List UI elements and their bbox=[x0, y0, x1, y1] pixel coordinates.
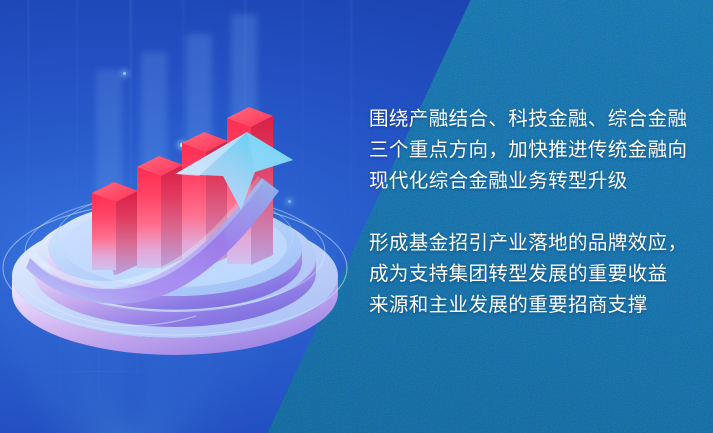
paragraph-1: 围绕产融结合、科技金融、综合金融 三个重点方向，加快推进传统金融向 现代化综合金… bbox=[369, 104, 689, 197]
bar-2 bbox=[137, 156, 183, 269]
paragraph-1-line-2: 三个重点方向，加快推进传统金融向 bbox=[369, 135, 689, 166]
promotional-banner: 围绕产融结合、科技金融、综合金融 三个重点方向，加快推进传统金融向 现代化综合金… bbox=[0, 0, 713, 433]
paragraph-2-line-1: 形成基金招引产业落地的品牌效应， bbox=[369, 228, 689, 259]
paragraph-2-line-3: 来源和主业发展的重要招商支撑 bbox=[369, 290, 689, 321]
paragraph-1-line-3: 现代化综合金融业务转型升级 bbox=[369, 166, 689, 197]
bar-1 bbox=[92, 182, 138, 275]
paragraph-1-line-1: 围绕产融结合、科技金融、综合金融 bbox=[369, 104, 689, 135]
paragraph-2-line-2: 成为支持集团转型发展的重要收益 bbox=[369, 259, 689, 290]
text-content: 围绕产融结合、科技金融、综合金融 三个重点方向，加快推进传统金融向 现代化综合金… bbox=[369, 104, 689, 321]
paragraph-2: 形成基金招引产业落地的品牌效应， 成为支持集团转型发展的重要收益 来源和主业发展… bbox=[369, 228, 689, 321]
